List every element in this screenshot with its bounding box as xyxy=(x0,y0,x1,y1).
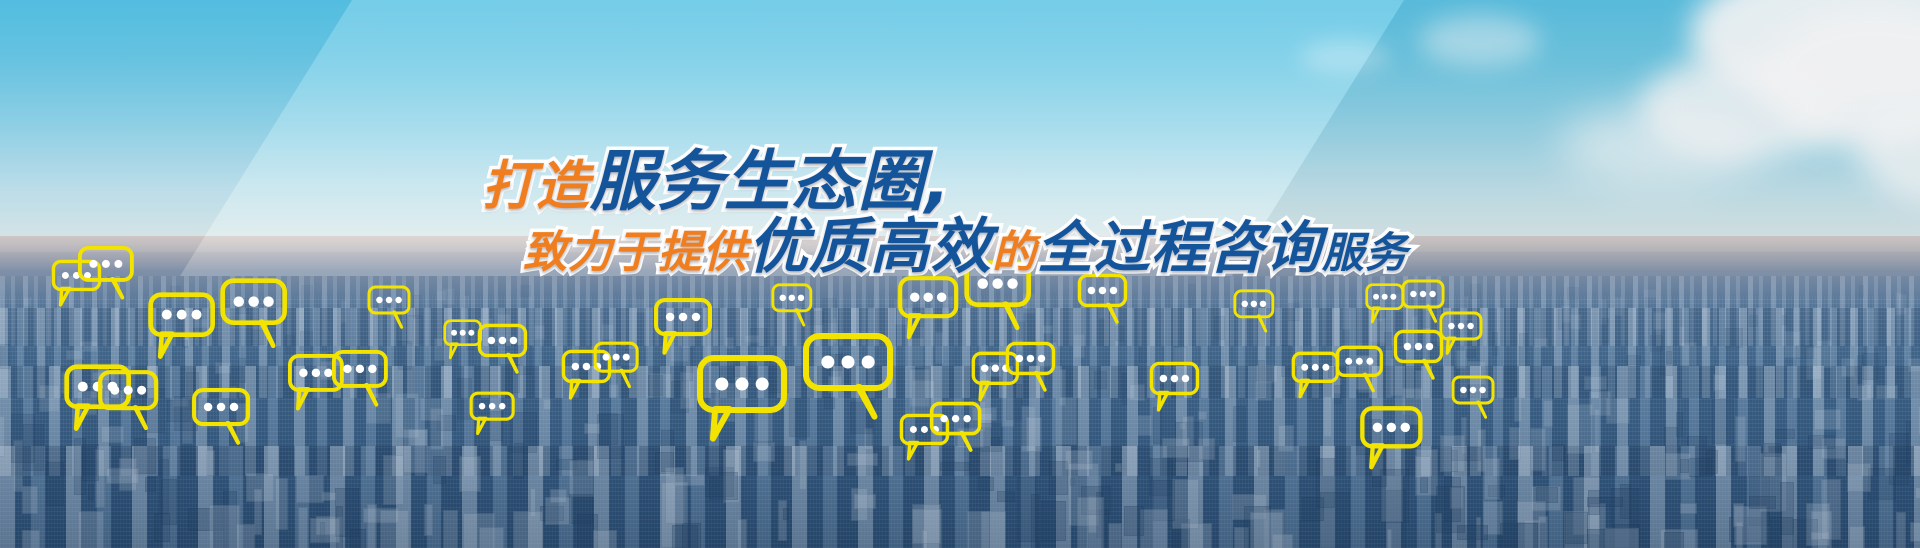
headline-line2-segment-4: 全过程咨询 xyxy=(1037,203,1322,284)
headline-line-2: 致力于提供优质高效的全过程咨询服务 xyxy=(523,198,1408,285)
headline-line2-segment-1: 致力于提供 xyxy=(523,216,748,280)
hero-banner: 打造服务生态圈, 致力于提供优质高效的全过程咨询服务 xyxy=(0,0,1920,548)
headline-block: 打造服务生态圈, 致力于提供优质高效的全过程咨询服务 xyxy=(0,0,1920,310)
headline-line2-segment-5: 服务 xyxy=(1322,219,1408,280)
headline-line2-segment-2: 优质高效 xyxy=(748,198,992,285)
headline-line2-segment-3: 的 xyxy=(992,216,1037,280)
